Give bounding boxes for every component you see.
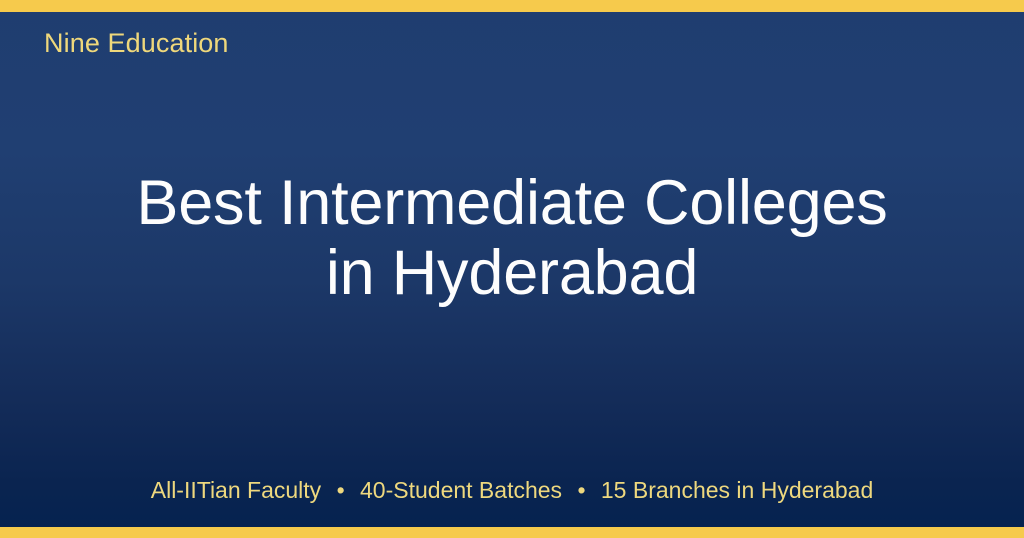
tagline-item-batches: 40-Student Batches [360, 475, 562, 505]
bullet-separator-icon: • [328, 475, 354, 505]
page-title: Best Intermediate Colleges in Hyderabad [0, 168, 1024, 308]
tagline-item-branches: 15 Branches in Hyderabad [601, 475, 873, 505]
bullet-separator-icon: • [568, 475, 594, 505]
bottom-accent-bar [0, 527, 1024, 538]
promo-slide: Nine Education Best Intermediate College… [0, 0, 1024, 538]
tagline-item-faculty: All-IITian Faculty [151, 475, 321, 505]
headline-line-1: Best Intermediate Colleges [0, 168, 1024, 238]
brand-name: Nine Education [44, 26, 229, 60]
feature-tagline: All-IITian Faculty • 40-Student Batches … [0, 475, 1024, 505]
headline-line-2: in Hyderabad [0, 238, 1024, 308]
top-accent-bar [0, 0, 1024, 12]
